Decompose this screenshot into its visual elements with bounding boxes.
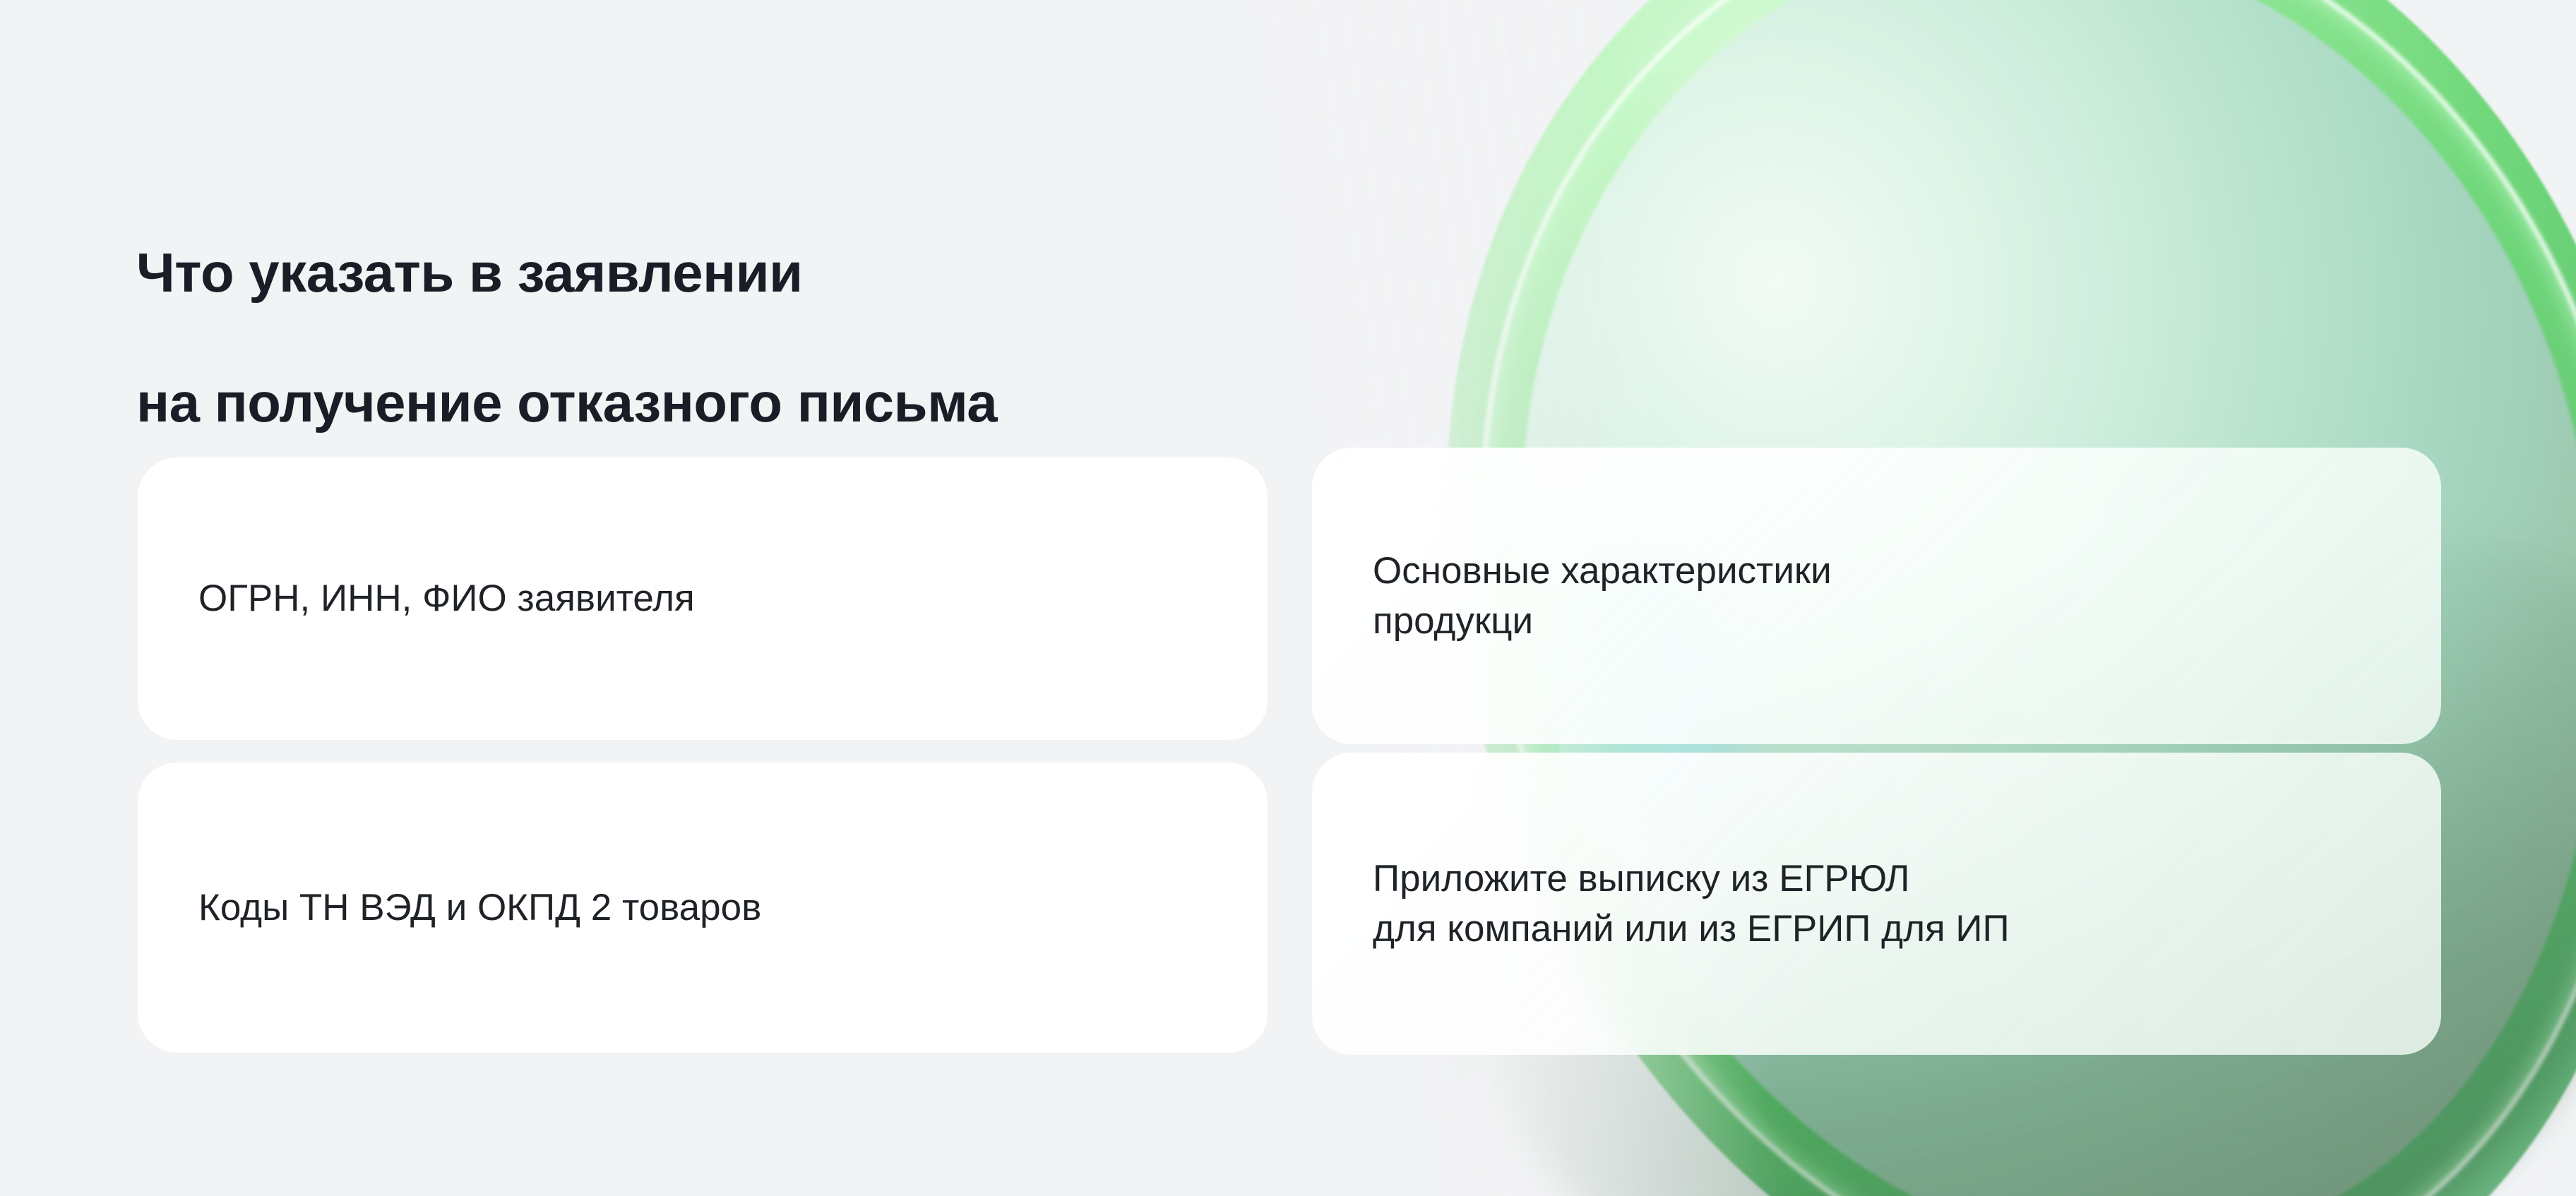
card-product-specs-label: Основные характеристики продукци — [1373, 546, 2380, 646]
card-applicant-ids[interactable]: ОГРН, ИНН, ФИО заявителя — [138, 458, 1268, 740]
promo-banner: Что указать в заявлении на получение отк… — [0, 0, 2576, 1196]
card-commodity-codes[interactable]: Коды ТН ВЭД и ОКПД 2 товаров — [138, 763, 1268, 1053]
card-product-specs[interactable]: Основные характеристики продукци — [1312, 448, 2441, 744]
card-applicant-ids-label: ОГРН, ИНН, ФИО заявителя — [198, 573, 1207, 623]
card-registry-extract[interactable]: Приложите выписку из ЕГРЮЛ для компаний … — [1312, 753, 2441, 1055]
page-title-line-1: Что указать в заявлении — [136, 240, 1654, 305]
requirements-card-grid: ОГРН, ИНН, ФИО заявителя Основные характ… — [138, 458, 2441, 1053]
page-title-line-2: на получение отказного письма — [136, 370, 1654, 435]
card-registry-extract-label: Приложите выписку из ЕГРЮЛ для компаний … — [1373, 854, 2380, 954]
card-commodity-codes-label: Коды ТН ВЭД и ОКПД 2 товаров — [198, 883, 1207, 933]
